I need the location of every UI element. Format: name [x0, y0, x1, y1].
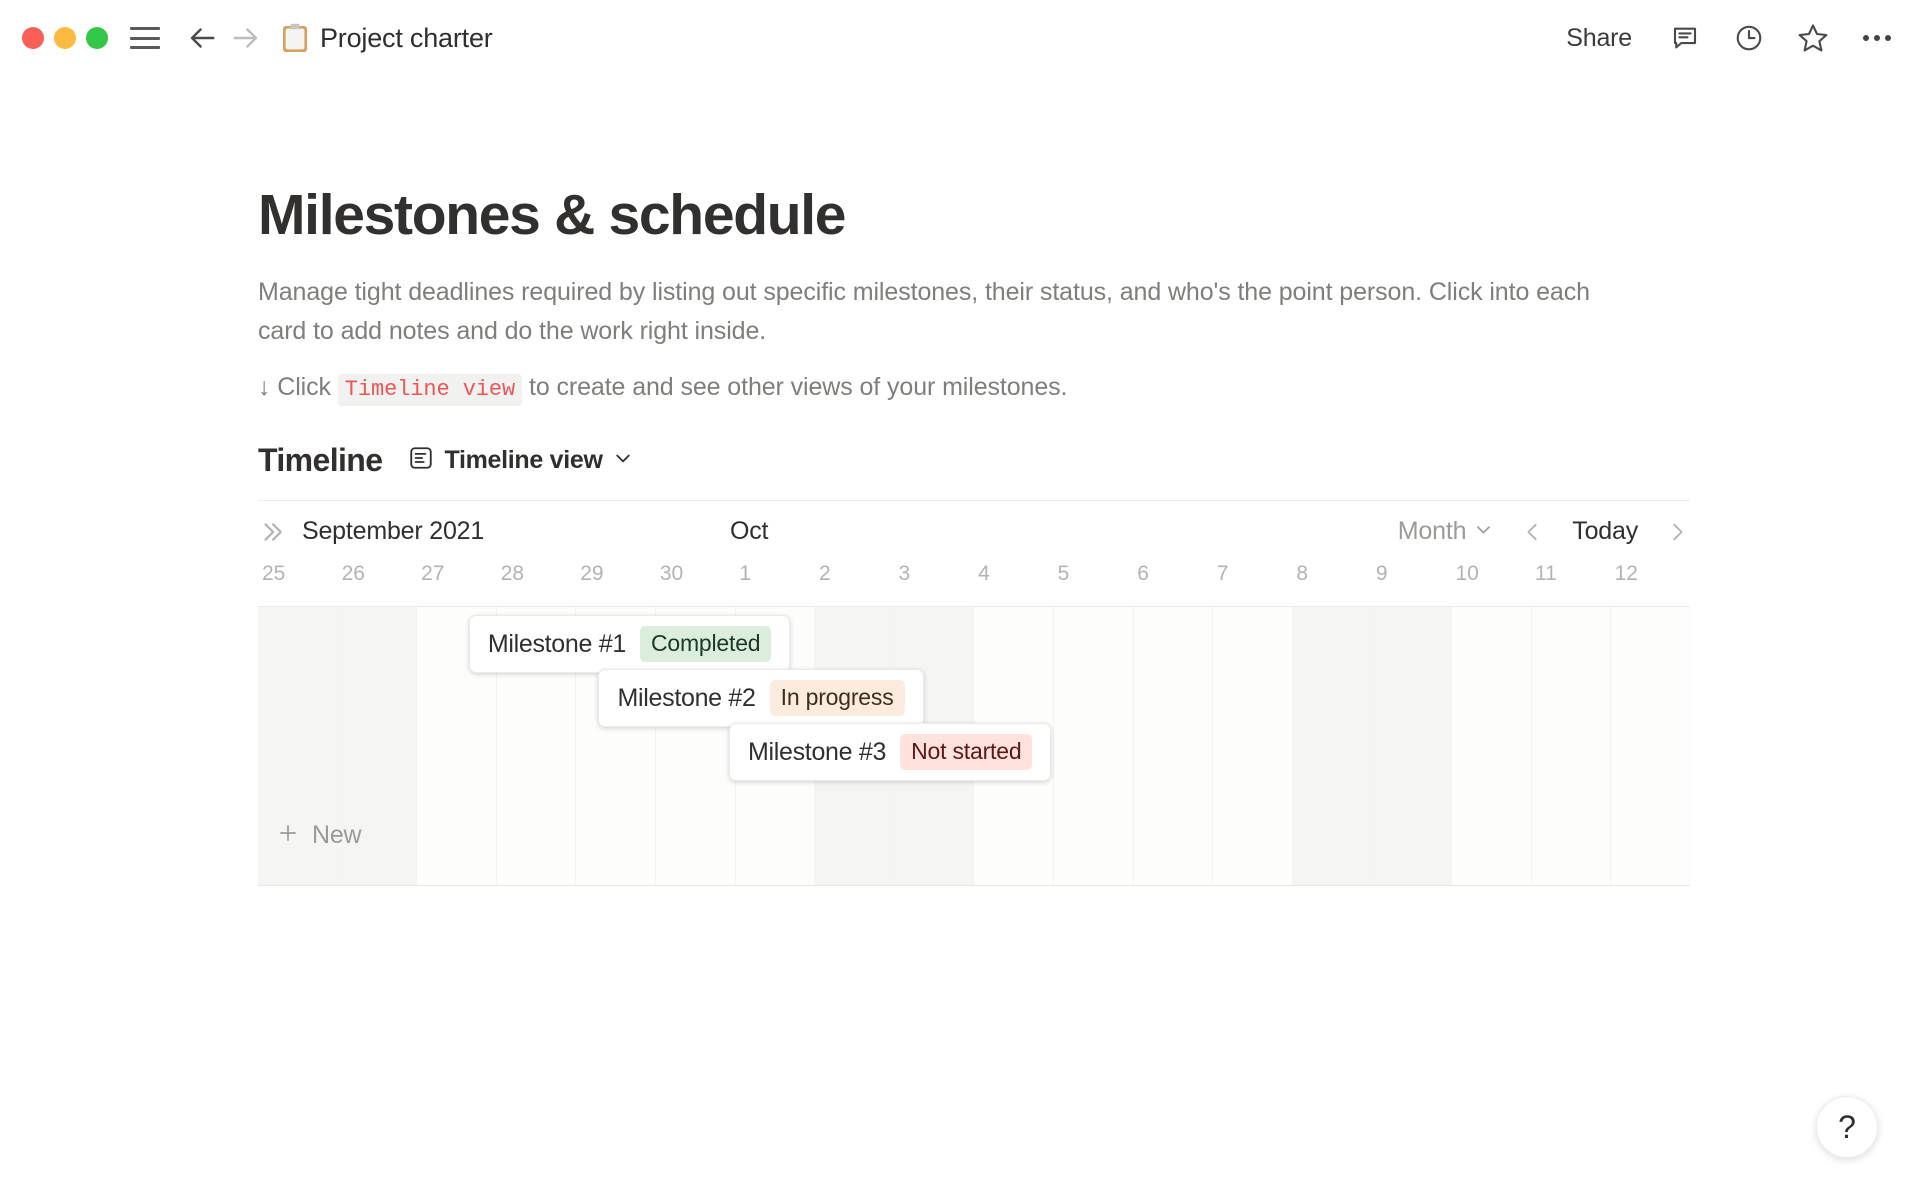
star-icon[interactable]: [1796, 21, 1830, 55]
timeline-day-label: 11: [1531, 562, 1611, 606]
document-title: Project charter: [320, 23, 493, 54]
document-breadcrumb[interactable]: Project charter: [282, 23, 493, 54]
timeline-current-month: September 2021: [302, 517, 484, 546]
hint-prefix: ↓ Click: [258, 373, 331, 401]
document-body: Milestones & schedule Manage tight deadl…: [0, 76, 1920, 886]
timeline-day-label: 4: [974, 562, 1054, 606]
timeline-widget: September 2021 Oct Month To: [258, 500, 1690, 886]
chevron-double-right-icon[interactable]: [258, 519, 284, 545]
timeline-today-button[interactable]: Today: [1568, 515, 1642, 548]
status-badge: Completed: [640, 626, 771, 662]
window-traffic-lights: [22, 27, 108, 49]
new-record-button[interactable]: New: [258, 785, 416, 885]
timeline-day-label: 6: [1133, 562, 1213, 606]
timeline-bar-title: Milestone #1: [488, 630, 626, 659]
comment-icon[interactable]: [1668, 21, 1702, 55]
timeline-next-month: Oct: [730, 517, 768, 546]
status-badge: In progress: [770, 680, 905, 716]
timeline-section-header: Timeline Timeline view: [258, 441, 1920, 480]
new-record-label: New: [312, 821, 361, 850]
timeline-view-label: Timeline view: [444, 446, 602, 475]
timeline-scale-label: Month: [1398, 517, 1466, 546]
timeline-day-label: 25: [258, 562, 338, 606]
window-titlebar: Project charter Share: [0, 0, 1920, 76]
timeline-day-label: 2: [815, 562, 895, 606]
arrow-right-icon[interactable]: [226, 18, 266, 58]
page-description: Manage tight deadlines required by listi…: [258, 273, 1638, 352]
clipboard-icon: [282, 23, 308, 53]
timeline-day-label: 12: [1611, 562, 1691, 606]
timeline-month-group: September 2021: [258, 517, 484, 546]
timeline-day-header: 252627282930123456789101112: [258, 562, 1690, 606]
help-button[interactable]: ?: [1816, 1096, 1878, 1158]
clock-icon[interactable]: [1732, 21, 1766, 55]
timeline-day-label: 8: [1292, 562, 1372, 606]
timeline-day-label: 10: [1451, 562, 1531, 606]
timeline-controls: Month Today: [1393, 514, 1690, 549]
page-hint: ↓ Click Timeline view to create and see …: [258, 368, 1638, 408]
hamburger-menu-icon[interactable]: [130, 27, 160, 49]
share-button[interactable]: Share: [1560, 20, 1638, 57]
timeline-day-label: 9: [1372, 562, 1452, 606]
timeline-bar[interactable]: Milestone #3Not started: [729, 723, 1051, 781]
page-title: Milestones & schedule: [258, 184, 1920, 247]
timeline-bar[interactable]: Milestone #2In progress: [598, 669, 923, 727]
timeline-day-label: 1: [735, 562, 815, 606]
timeline-day-label: 29: [576, 562, 656, 606]
timeline-day-label: 3: [895, 562, 975, 606]
arrow-left-icon[interactable]: [182, 18, 222, 58]
timeline-day-label: 26: [338, 562, 418, 606]
section-title: Timeline: [258, 442, 382, 479]
timeline-day-label: 5: [1054, 562, 1134, 606]
timeline-day-label: 30: [656, 562, 736, 606]
timeline-day-label: 28: [497, 562, 577, 606]
maximize-window-button[interactable]: [86, 27, 108, 49]
timeline-day-label: 7: [1213, 562, 1293, 606]
chevron-down-icon: [1474, 520, 1493, 544]
timeline-scale-selector[interactable]: Month: [1393, 514, 1498, 549]
timeline-bars: Milestone #1CompletedMilestone #2In prog…: [258, 607, 1690, 885]
minimize-window-button[interactable]: [54, 27, 76, 49]
status-badge: Not started: [900, 734, 1032, 770]
timeline-bar-title: Milestone #2: [617, 684, 755, 713]
chevron-left-icon[interactable]: [1520, 517, 1546, 547]
hint-suffix: to create and see other views of your mi…: [529, 373, 1067, 401]
timeline-bar[interactable]: Milestone #1Completed: [469, 615, 791, 673]
timeline-toolbar: September 2021 Oct Month To: [258, 500, 1690, 562]
ellipsis-icon[interactable]: [1860, 21, 1894, 55]
timeline-bar-title: Milestone #3: [748, 738, 886, 767]
chevron-right-icon[interactable]: [1664, 517, 1690, 547]
chevron-down-icon: [613, 448, 633, 473]
close-window-button[interactable]: [22, 27, 44, 49]
inline-code-timeline-view[interactable]: Timeline view: [338, 374, 522, 406]
tab-timeline-view[interactable]: Timeline view: [402, 441, 638, 480]
timeline-day-label: 27: [417, 562, 497, 606]
plus-icon: [276, 821, 300, 850]
timeline-view-icon: [408, 445, 434, 476]
timeline-grid[interactable]: Milestone #1CompletedMilestone #2In prog…: [258, 606, 1690, 886]
titlebar-actions: Share: [1560, 0, 1894, 76]
